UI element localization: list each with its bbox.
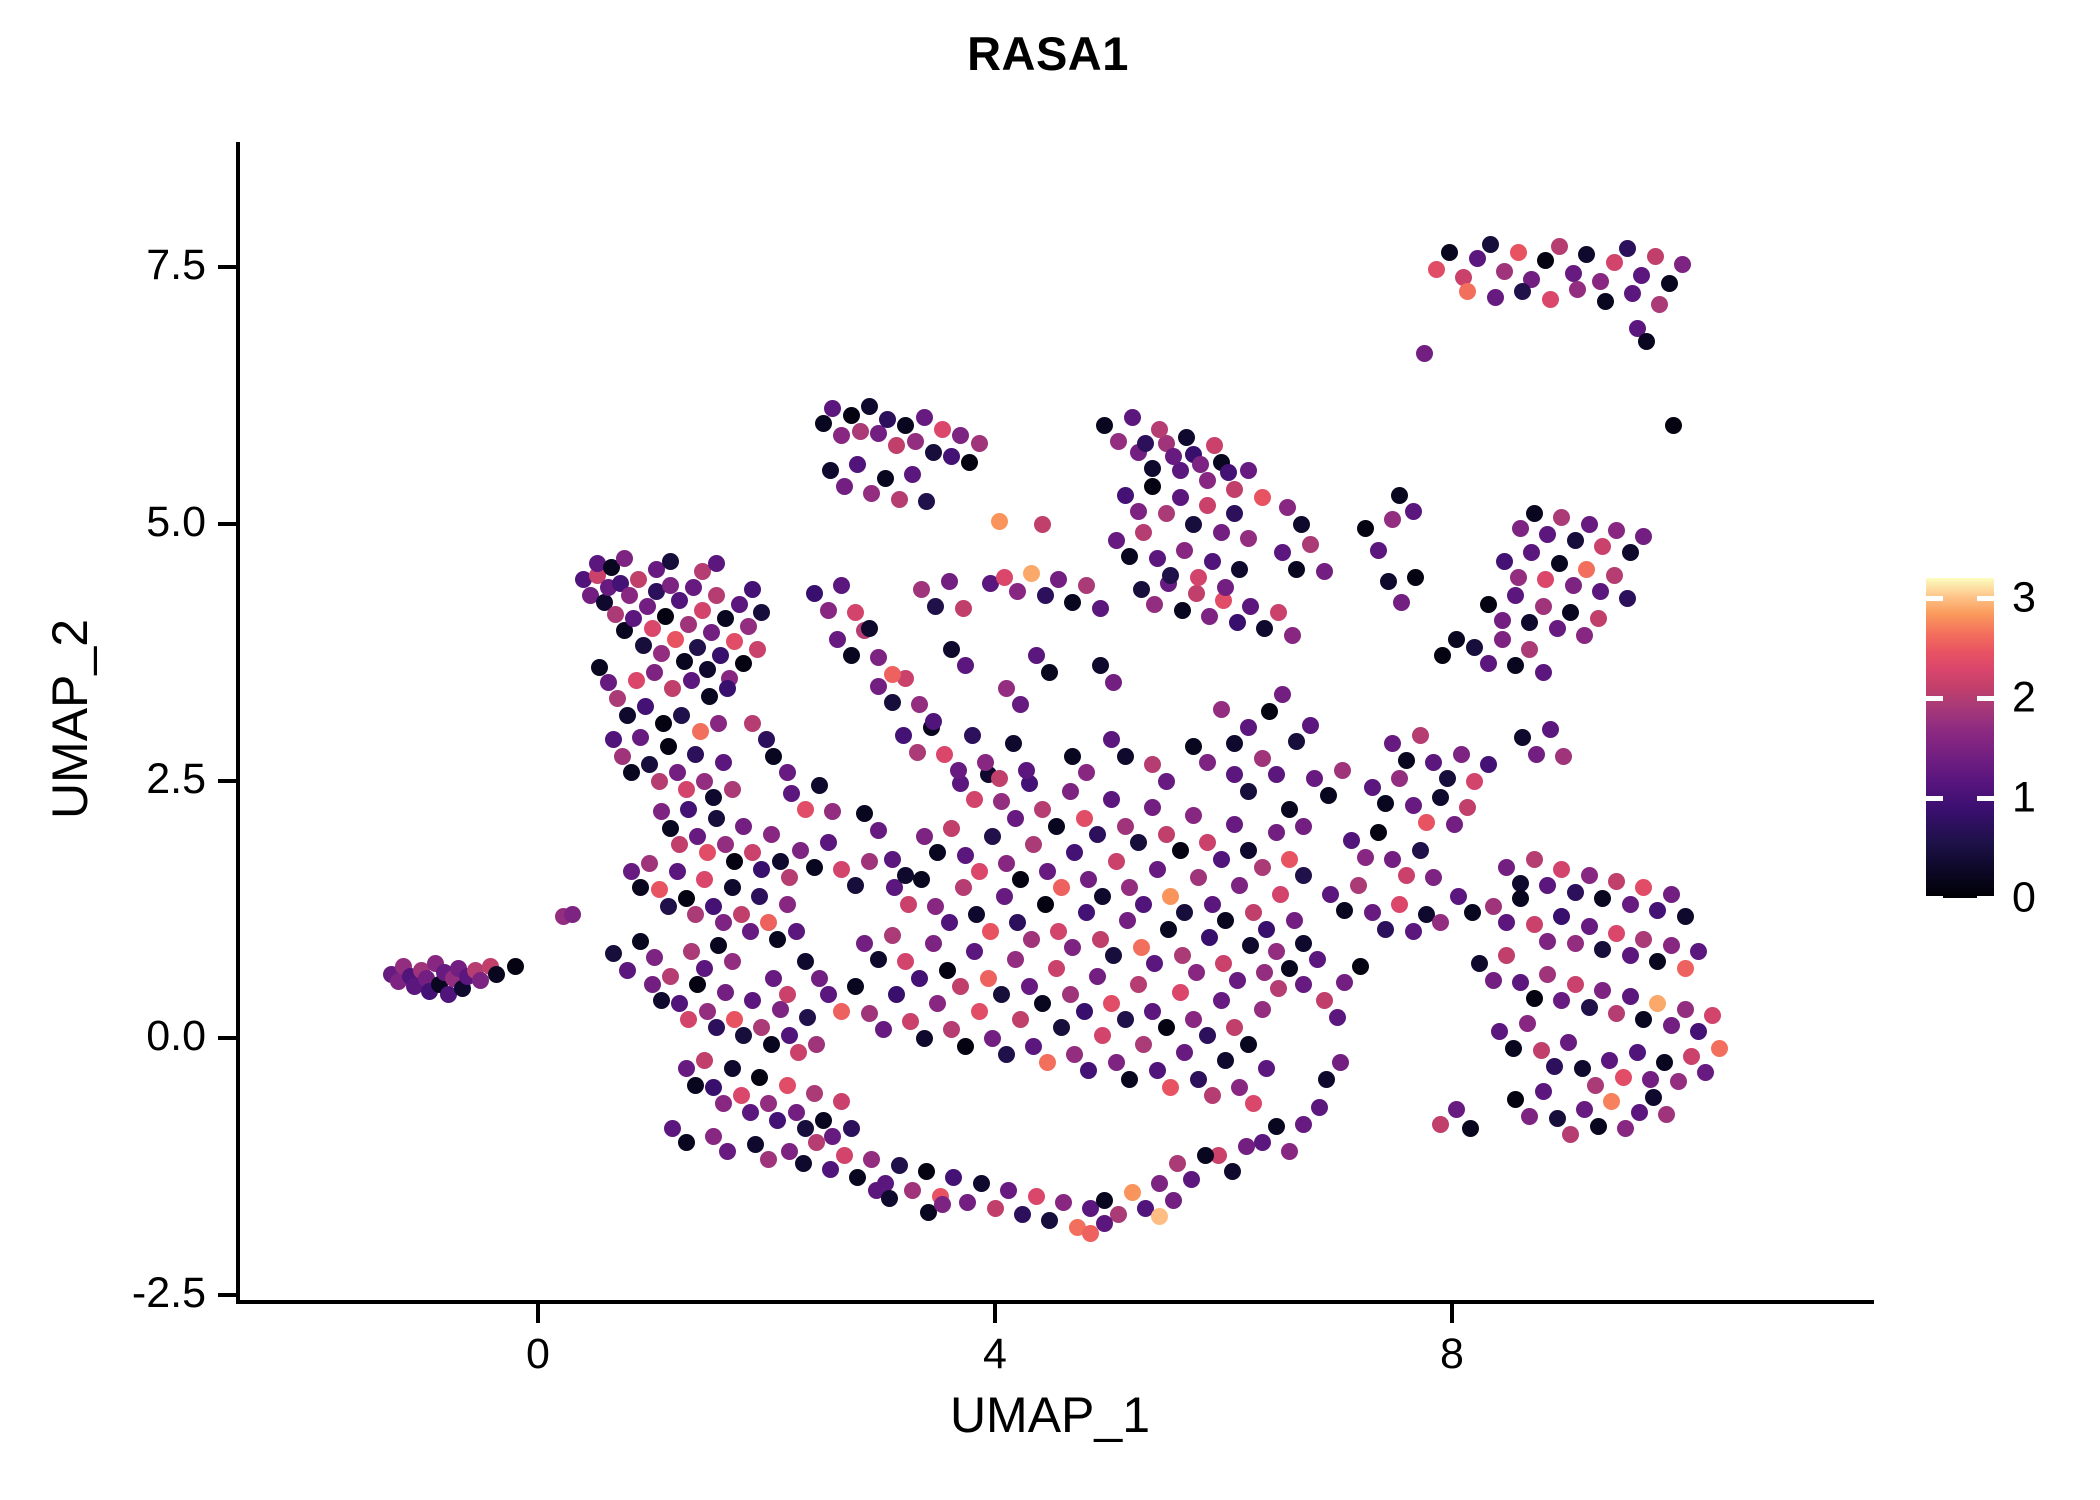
scatter-point: [934, 421, 951, 438]
scatter-point: [1165, 1192, 1182, 1209]
scatter-point: [1007, 951, 1024, 968]
scatter-point: [993, 986, 1010, 1003]
scatter-point: [943, 820, 960, 837]
scatter-point: [884, 851, 901, 868]
scatter-point: [1000, 1182, 1017, 1199]
scatter-point: [708, 587, 725, 604]
scatter-point: [1213, 992, 1230, 1009]
y-tick-label: 0.0: [36, 1012, 206, 1061]
scatter-point: [1555, 748, 1572, 765]
scatter-point: [1121, 1071, 1138, 1088]
scatter-point: [1012, 696, 1029, 713]
scatter-point: [811, 777, 828, 794]
scatter-point: [635, 637, 652, 654]
scatter-point: [1021, 978, 1038, 995]
scatter-point: [952, 427, 969, 444]
scatter-point: [815, 1112, 832, 1129]
scatter-point: [779, 986, 796, 1003]
scatter-point: [715, 754, 732, 771]
scatter-point: [1514, 729, 1531, 746]
scatter-point: [797, 953, 814, 970]
scatter-point: [1391, 487, 1408, 504]
scatter-point: [1311, 1099, 1328, 1116]
scatter-point: [1357, 849, 1374, 866]
scatter-point: [1418, 814, 1435, 831]
scatter-point: [1137, 435, 1154, 452]
scatter-point: [1601, 1052, 1618, 1069]
scatter-point: [1274, 544, 1291, 561]
scatter-point: [1144, 756, 1161, 773]
scatter-point: [1466, 773, 1483, 790]
scatter-point: [1204, 553, 1221, 570]
scatter-point: [1377, 795, 1394, 812]
scatter-point: [1012, 871, 1029, 888]
scatter-point: [1256, 964, 1273, 981]
scatter-point: [1581, 516, 1598, 533]
scatter-point: [1617, 1120, 1634, 1137]
scatter-point: [1567, 884, 1584, 901]
scatter-point: [1188, 585, 1205, 602]
scatter-point: [820, 602, 837, 619]
scatter-point: [1199, 472, 1216, 489]
y-tick-mark: [218, 779, 237, 783]
scatter-point: [1428, 261, 1445, 278]
scatter-point: [961, 454, 978, 471]
scatter-point: [980, 970, 997, 987]
scatter-point: [1204, 1087, 1221, 1104]
scatter-point: [1690, 1023, 1707, 1040]
scatter-point: [925, 713, 942, 730]
scatter-point: [1453, 746, 1470, 763]
scatter-point: [781, 869, 798, 886]
scatter-point: [1178, 429, 1195, 446]
scatter-point: [1078, 904, 1095, 921]
scatter-point: [1117, 818, 1134, 835]
scatter-point: [1441, 244, 1458, 261]
scatter-point: [1302, 717, 1319, 734]
scatter-point: [1268, 824, 1285, 841]
y-tick-mark: [218, 1036, 237, 1040]
scatter-point: [1578, 246, 1595, 263]
scatter-point: [1656, 1054, 1673, 1071]
scatter-point: [1185, 738, 1202, 755]
scatter-point: [1608, 873, 1625, 890]
scatter-point: [1204, 896, 1221, 913]
scatter-point: [619, 962, 636, 979]
scatter-point: [987, 1200, 1004, 1217]
scatter-point: [1581, 999, 1598, 1016]
scatter-point: [1007, 810, 1024, 827]
scatter-point: [1592, 273, 1609, 290]
scatter-point: [1594, 890, 1611, 907]
scatter-point: [808, 1036, 825, 1053]
scatter-point: [1206, 437, 1223, 454]
scatter-point: [1146, 955, 1163, 972]
scatter-point: [660, 738, 677, 755]
scatter-point: [788, 1104, 805, 1121]
scatter-point: [1393, 594, 1410, 611]
scatter-point: [1432, 1116, 1449, 1133]
scatter-point: [1197, 1147, 1214, 1164]
scatter-point: [1677, 908, 1694, 925]
scatter-point: [1412, 842, 1429, 859]
scatter-point: [667, 631, 684, 648]
x-axis-title: UMAP_1: [0, 1386, 2100, 1444]
scatter-point: [1135, 1036, 1152, 1053]
scatter-point: [744, 844, 761, 861]
scatter-point: [621, 587, 638, 604]
scatter-point: [1539, 526, 1556, 543]
scatter-point: [655, 715, 672, 732]
scatter-point: [1606, 254, 1623, 271]
x-axis-line: [236, 1300, 1874, 1304]
scatter-point: [1176, 542, 1193, 559]
scatter-point: [1485, 898, 1502, 915]
scatter-point: [849, 456, 866, 473]
colorbar-tick-mark: [1926, 696, 1943, 701]
scatter-point: [1523, 544, 1540, 561]
colorbar-tick-mark: [1977, 596, 1994, 601]
colorbar-tick-mark: [1926, 596, 1943, 601]
scatter-point: [1190, 869, 1207, 886]
scatter-point: [1480, 655, 1497, 672]
colorbar-legend: 0123: [1926, 578, 2096, 900]
scatter-point: [891, 491, 908, 508]
scatter-point: [1482, 236, 1499, 253]
scatter-point: [1539, 877, 1556, 894]
scatter-point: [680, 616, 697, 633]
scatter-point: [662, 820, 679, 837]
scatter-point: [1553, 908, 1570, 925]
scatter-point: [1281, 1143, 1298, 1160]
scatter-point: [1622, 988, 1639, 1005]
scatter-point: [955, 879, 972, 896]
scatter-point: [680, 801, 697, 818]
scatter-point: [916, 1030, 933, 1047]
scatter-point: [1592, 583, 1609, 600]
scatter-point: [1446, 816, 1463, 833]
scatter-point: [1645, 1089, 1662, 1106]
scatter-point: [1014, 1206, 1031, 1223]
scatter-point: [694, 602, 711, 619]
scatter-point: [1581, 918, 1598, 935]
scatter-point: [605, 731, 622, 748]
scatter-point: [1295, 867, 1312, 884]
x-tick-mark: [1450, 1304, 1454, 1323]
scatter-point: [1336, 902, 1353, 919]
scatter-point: [847, 877, 864, 894]
scatter-point: [971, 435, 988, 452]
scatter-point: [724, 781, 741, 798]
scatter-point: [1480, 756, 1497, 773]
scatter-point: [1103, 995, 1120, 1012]
scatter-point: [1146, 596, 1163, 613]
scatter-point: [833, 427, 850, 444]
x-tick-label: 0: [478, 1330, 598, 1379]
scatter-point: [1432, 914, 1449, 931]
scatter-point: [1551, 238, 1568, 255]
scatter-point: [1553, 509, 1570, 526]
scatter-point: [1190, 1071, 1207, 1088]
scatter-point: [881, 1190, 898, 1207]
scatter-point: [1416, 345, 1433, 362]
scatter-point: [1711, 1040, 1728, 1057]
scatter-point: [1226, 481, 1243, 498]
scatter-point: [1658, 1106, 1675, 1123]
scatter-point: [1089, 826, 1106, 843]
scatter-point: [916, 409, 933, 426]
scatter-point: [1343, 832, 1360, 849]
scatter-point: [1606, 567, 1623, 584]
scatter-point: [897, 417, 914, 434]
scatter-point: [710, 715, 727, 732]
scatter-point: [964, 727, 981, 744]
scatter-point: [1464, 904, 1481, 921]
scatter-point: [769, 1112, 786, 1129]
scatter-point: [1594, 538, 1611, 555]
scatter-point: [934, 1196, 951, 1213]
scatter-point: [1594, 941, 1611, 958]
scatter-point: [1370, 824, 1387, 841]
scatter-point: [904, 1182, 921, 1199]
scatter-point: [1117, 1011, 1134, 1028]
scatter-point: [1158, 773, 1175, 790]
scatter-point: [1608, 522, 1625, 539]
scatter-point: [1663, 937, 1680, 954]
scatter-point: [1309, 951, 1326, 968]
scatter-point: [902, 1013, 919, 1030]
scatter-point: [1254, 859, 1271, 876]
scatter-point: [779, 896, 796, 913]
scatter-point: [726, 633, 743, 650]
scatter-point: [939, 962, 956, 979]
scatter-point: [717, 610, 734, 627]
scatter-point: [740, 618, 757, 635]
scatter-point: [1521, 1108, 1538, 1125]
scatter-point: [753, 604, 770, 621]
scatter-point: [678, 1060, 695, 1077]
scatter-point: [1226, 505, 1243, 522]
scatter-point: [1288, 733, 1305, 750]
scatter-point: [1037, 896, 1054, 913]
scatter-point: [996, 888, 1013, 905]
scatter-point: [1103, 731, 1120, 748]
scatter-point: [1510, 569, 1527, 586]
scatter-point: [1649, 995, 1666, 1012]
scatter-point: [1176, 904, 1193, 921]
scatter-point: [1124, 1184, 1141, 1201]
scatter-plot-panel: [240, 142, 1874, 1300]
scatter-point: [680, 1011, 697, 1028]
scatter-point: [724, 879, 741, 896]
scatter-point: [879, 411, 896, 428]
scatter-point: [1130, 834, 1147, 851]
scatter-point: [911, 696, 928, 713]
scatter-point: [1578, 561, 1595, 578]
scatter-point: [1521, 641, 1538, 658]
scatter-point: [1062, 783, 1079, 800]
scatter-point: [1286, 912, 1303, 929]
scatter-point: [1176, 1044, 1193, 1061]
scatter-point: [1567, 935, 1584, 952]
scatter-point: [1053, 1019, 1070, 1036]
scatter-point: [1405, 503, 1422, 520]
scatter-point: [870, 951, 887, 968]
scatter-point: [1165, 448, 1182, 465]
scatter-point: [1149, 861, 1166, 878]
scatter-point: [1320, 787, 1337, 804]
scatter-point: [1377, 921, 1394, 938]
scatter-point: [836, 1147, 853, 1164]
scatter-point: [1256, 620, 1273, 637]
scatter-point: [1553, 992, 1570, 1009]
scatter-point: [763, 1036, 780, 1053]
scatter-point: [744, 992, 761, 1009]
scatter-point: [641, 756, 658, 773]
scatter-point: [632, 879, 649, 896]
scatter-point: [941, 573, 958, 590]
scatter-point: [701, 688, 718, 705]
scatter-point: [1048, 818, 1065, 835]
scatter-point: [1268, 943, 1285, 960]
scatter-point: [1462, 1120, 1479, 1137]
scatter-point: [1151, 421, 1168, 438]
scatter-point: [1094, 888, 1111, 905]
scatter-point: [1199, 1027, 1216, 1044]
scatter-point: [1674, 256, 1691, 273]
scatter-point: [747, 1136, 764, 1153]
scatter-point: [653, 992, 670, 1009]
scatter-point: [628, 672, 645, 689]
scatter-point: [824, 803, 841, 820]
scatter-point: [1562, 604, 1579, 621]
scatter-point: [833, 1093, 850, 1110]
scatter-point: [1364, 779, 1381, 796]
scatter-point: [760, 914, 777, 931]
scatter-point: [657, 608, 674, 625]
scatter-point: [1590, 610, 1607, 627]
scatter-point: [1651, 296, 1668, 313]
scatter-point: [779, 1077, 796, 1094]
scatter-point: [1519, 1015, 1536, 1032]
scatter-point: [689, 828, 706, 845]
scatter-point: [758, 731, 775, 748]
scatter-point: [699, 1003, 716, 1020]
scatter-point: [943, 641, 960, 658]
scatter-point: [863, 1151, 880, 1168]
scatter-point: [1151, 1175, 1168, 1192]
scatter-point: [735, 1027, 752, 1044]
y-tick-label: -2.5: [36, 1269, 206, 1318]
scatter-point: [863, 485, 880, 502]
scatter-point: [1542, 721, 1559, 738]
scatter-point: [1526, 990, 1543, 1007]
scatter-point: [712, 647, 729, 664]
colorbar-gradient: [1926, 578, 1994, 898]
scatter-point: [1041, 664, 1058, 681]
scatter-point: [781, 1143, 798, 1160]
scatter-point: [644, 976, 661, 993]
scatter-point: [1213, 524, 1230, 541]
scatter-point: [1635, 528, 1652, 545]
scatter-point: [984, 1030, 1001, 1047]
scatter-point: [1485, 972, 1502, 989]
scatter-point: [1240, 719, 1257, 736]
scatter-point: [1295, 1116, 1312, 1133]
scatter-point: [1242, 937, 1259, 954]
scatter-point: [870, 822, 887, 839]
scatter-point: [1041, 1212, 1058, 1229]
scatter-point: [1302, 536, 1319, 553]
scatter-point: [1076, 810, 1093, 827]
scatter-point: [641, 855, 658, 872]
scatter-point: [1597, 293, 1614, 310]
scatter-point: [1135, 896, 1152, 913]
scatter-point: [991, 770, 1008, 787]
scatter-point: [861, 620, 878, 637]
scatter-point: [1240, 462, 1257, 479]
scatter-point: [1562, 1126, 1579, 1143]
scatter-point: [1567, 532, 1584, 549]
scatter-point: [779, 764, 796, 781]
scatter-point: [1121, 879, 1138, 896]
colorbar-tick-mark: [1977, 896, 1994, 901]
scatter-point: [671, 836, 688, 853]
scatter-point: [1316, 563, 1333, 580]
scatter-point: [696, 1052, 713, 1069]
scatter-point: [1144, 799, 1161, 816]
scatter-point: [1567, 976, 1584, 993]
scatter-point: [1172, 984, 1189, 1001]
scatter-point: [1293, 516, 1310, 533]
scatter-point: [644, 620, 661, 637]
scatter-point: [760, 1151, 777, 1168]
scatter-point: [1407, 569, 1424, 586]
scatter-point: [1162, 1079, 1179, 1096]
scatter-point: [1130, 503, 1147, 520]
scatter-point: [1217, 1052, 1234, 1069]
scatter-point: [708, 1019, 725, 1036]
scatter-point: [820, 834, 837, 851]
scatter-point: [600, 674, 617, 691]
scatter-point: [1012, 1011, 1029, 1028]
scatter-point: [1034, 801, 1051, 818]
scatter-point: [1025, 1038, 1042, 1055]
scatter-point: [1494, 631, 1511, 648]
scatter-point: [1537, 252, 1554, 269]
scatter-point: [1080, 1062, 1097, 1079]
scatter-point: [1023, 931, 1040, 948]
scatter-point: [1553, 861, 1570, 878]
scatter-point: [836, 478, 853, 495]
scatter-point: [1258, 921, 1275, 938]
scatter-point: [1009, 583, 1026, 600]
scatter-point: [806, 859, 823, 876]
scatter-point: [1199, 754, 1216, 771]
scatter-point: [833, 861, 850, 878]
scatter-point: [1279, 499, 1296, 516]
scatter-point: [849, 1169, 866, 1186]
scatter-point: [822, 1161, 839, 1178]
scatter-point: [1622, 947, 1639, 964]
scatter-point: [1160, 921, 1177, 938]
scatter-point: [699, 661, 716, 678]
scatter-point: [1608, 925, 1625, 942]
scatter-point: [1469, 250, 1486, 267]
scatter-point: [1425, 869, 1442, 886]
scatter-point: [1119, 912, 1136, 929]
scatter-point: [1028, 647, 1045, 664]
